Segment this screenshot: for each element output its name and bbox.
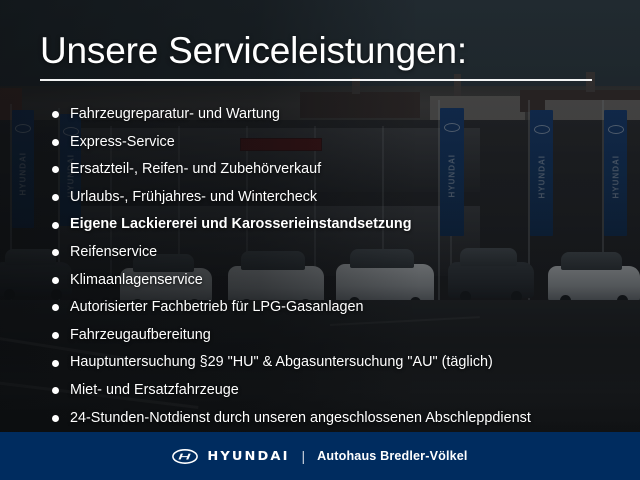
service-label: Ersatzteil-, Reifen- und Zubehörverkauf xyxy=(70,161,321,177)
dealer-name: Autohaus Bredler-Völkel xyxy=(317,449,467,463)
service-label: Autorisierter Fachbetrieb für LPG-Gasanl… xyxy=(70,299,364,315)
footer-separator: | xyxy=(299,448,309,464)
service-label: Hauptuntersuchung §29 "HU" & Abgasunters… xyxy=(70,354,493,370)
service-list-item: 24-Stunden-Notdienst durch unseren anges… xyxy=(40,405,632,433)
service-label: Eigene Lackiererei und Karosserieinstand… xyxy=(70,216,412,232)
bullet-icon xyxy=(52,166,59,173)
service-label: Miet- und Ersatzfahrzeuge xyxy=(70,382,239,398)
bullet-icon xyxy=(52,139,59,146)
service-label: Urlaubs-, Frühjahres- und Wintercheck xyxy=(70,189,317,205)
service-label: 24-Stunden-Notdienst durch unseren anges… xyxy=(70,410,531,426)
service-list-item: Urlaubs-, Frühjahres- und Wintercheck xyxy=(40,184,632,212)
service-label: Fahrzeugaufbereitung xyxy=(70,327,211,343)
service-list-item: Fahrzeugreparatur- und Wartung xyxy=(40,101,632,129)
title-divider xyxy=(40,79,592,81)
service-list-item: Express-Service xyxy=(40,129,632,157)
service-list-item: Eigene Lackiererei und Karosserieinstand… xyxy=(40,211,632,239)
service-list-item: Klimaanlagenservice xyxy=(40,267,632,295)
service-list-item: Ersatzteil-, Reifen- und Zubehörverkauf xyxy=(40,156,632,184)
content-layer: Unsere Serviceleistungen: Fahrzeugrepara… xyxy=(0,0,640,432)
bullet-icon xyxy=(52,304,59,311)
hyundai-logo-icon xyxy=(172,449,198,464)
bullet-icon xyxy=(52,111,59,118)
bullet-icon xyxy=(52,387,59,394)
service-label: Fahrzeugreparatur- und Wartung xyxy=(70,106,280,122)
bullet-icon xyxy=(52,360,59,367)
bullet-icon xyxy=(52,194,59,201)
bullet-icon xyxy=(52,415,59,422)
bullet-icon xyxy=(52,332,59,339)
footer-brand-group: HYUNDAI | Autohaus Bredler-Völkel xyxy=(172,448,467,464)
service-list-item: Reifenservice xyxy=(40,239,632,267)
brand-footer: HYUNDAI | Autohaus Bredler-Völkel xyxy=(0,432,640,480)
page-title: Unsere Serviceleistungen: xyxy=(40,28,467,74)
bullet-icon xyxy=(52,277,59,284)
service-label: Klimaanlagenservice xyxy=(70,272,203,288)
promo-graphic: HYUNDAI HYUNDAI HYUNDAI HYUNDAI HYUNDAI xyxy=(0,0,640,480)
service-list-item: Miet- und Ersatzfahrzeuge xyxy=(40,377,632,405)
service-label: Express-Service xyxy=(70,134,175,150)
bullet-icon xyxy=(52,222,59,229)
hyundai-wordmark: HYUNDAI xyxy=(207,449,289,463)
service-list-item: Autorisierter Fachbetrieb für LPG-Gasanl… xyxy=(40,294,632,322)
services-list: Fahrzeugreparatur- und WartungExpress-Se… xyxy=(40,101,632,432)
bullet-icon xyxy=(52,249,59,256)
service-list-item: Hauptuntersuchung §29 "HU" & Abgasunters… xyxy=(40,349,632,377)
service-label: Reifenservice xyxy=(70,244,157,260)
service-list-item: Fahrzeugaufbereitung xyxy=(40,322,632,350)
